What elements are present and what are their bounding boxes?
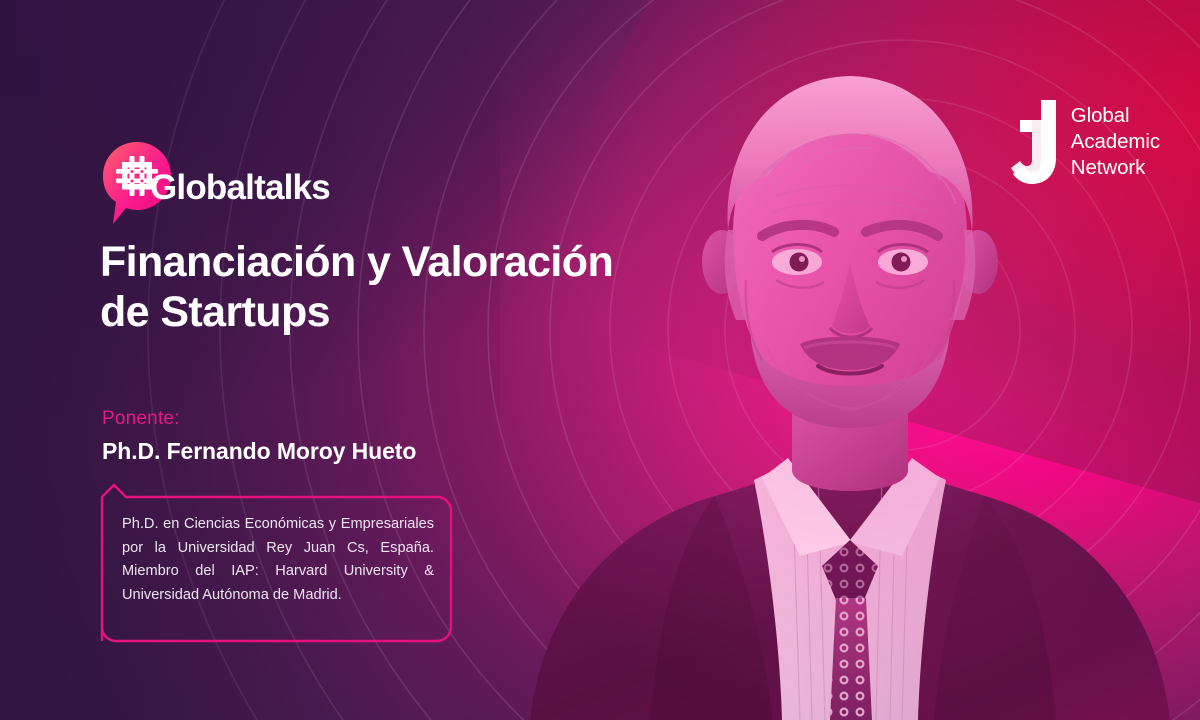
page-title: Financiación y Valoración de Startups — [100, 238, 660, 338]
gan-line-3: Network — [1071, 155, 1160, 181]
speaker-bio-box: Ph.D. en Ciencias Económicas y Empresari… — [100, 483, 453, 643]
speaker-bio-text: Ph.D. en Ciencias Económicas y Empresari… — [122, 513, 434, 608]
global-academic-network-logo: Global Academic Network — [1008, 98, 1160, 186]
speaker-label: Ponente: — [102, 408, 180, 430]
content-column: Globaltalks Financiación y Valoración de… — [100, 0, 620, 720]
double-j-monogram-icon — [1008, 98, 1058, 186]
gan-line-1: Global — [1071, 103, 1160, 129]
title-line-1: Financiación y Valoración — [100, 238, 613, 286]
global-academic-network-text: Global Academic Network — [1071, 103, 1160, 180]
title-line-2: de Startups — [100, 288, 330, 336]
globaltalks-wordmark: Globaltalks — [150, 168, 330, 208]
speaker-name: Ph.D. Fernando Moroy Hueto — [102, 438, 416, 465]
promo-banner: Globaltalks Financiación y Valoración de… — [0, 0, 1200, 720]
gan-line-2: Academic — [1071, 129, 1160, 155]
